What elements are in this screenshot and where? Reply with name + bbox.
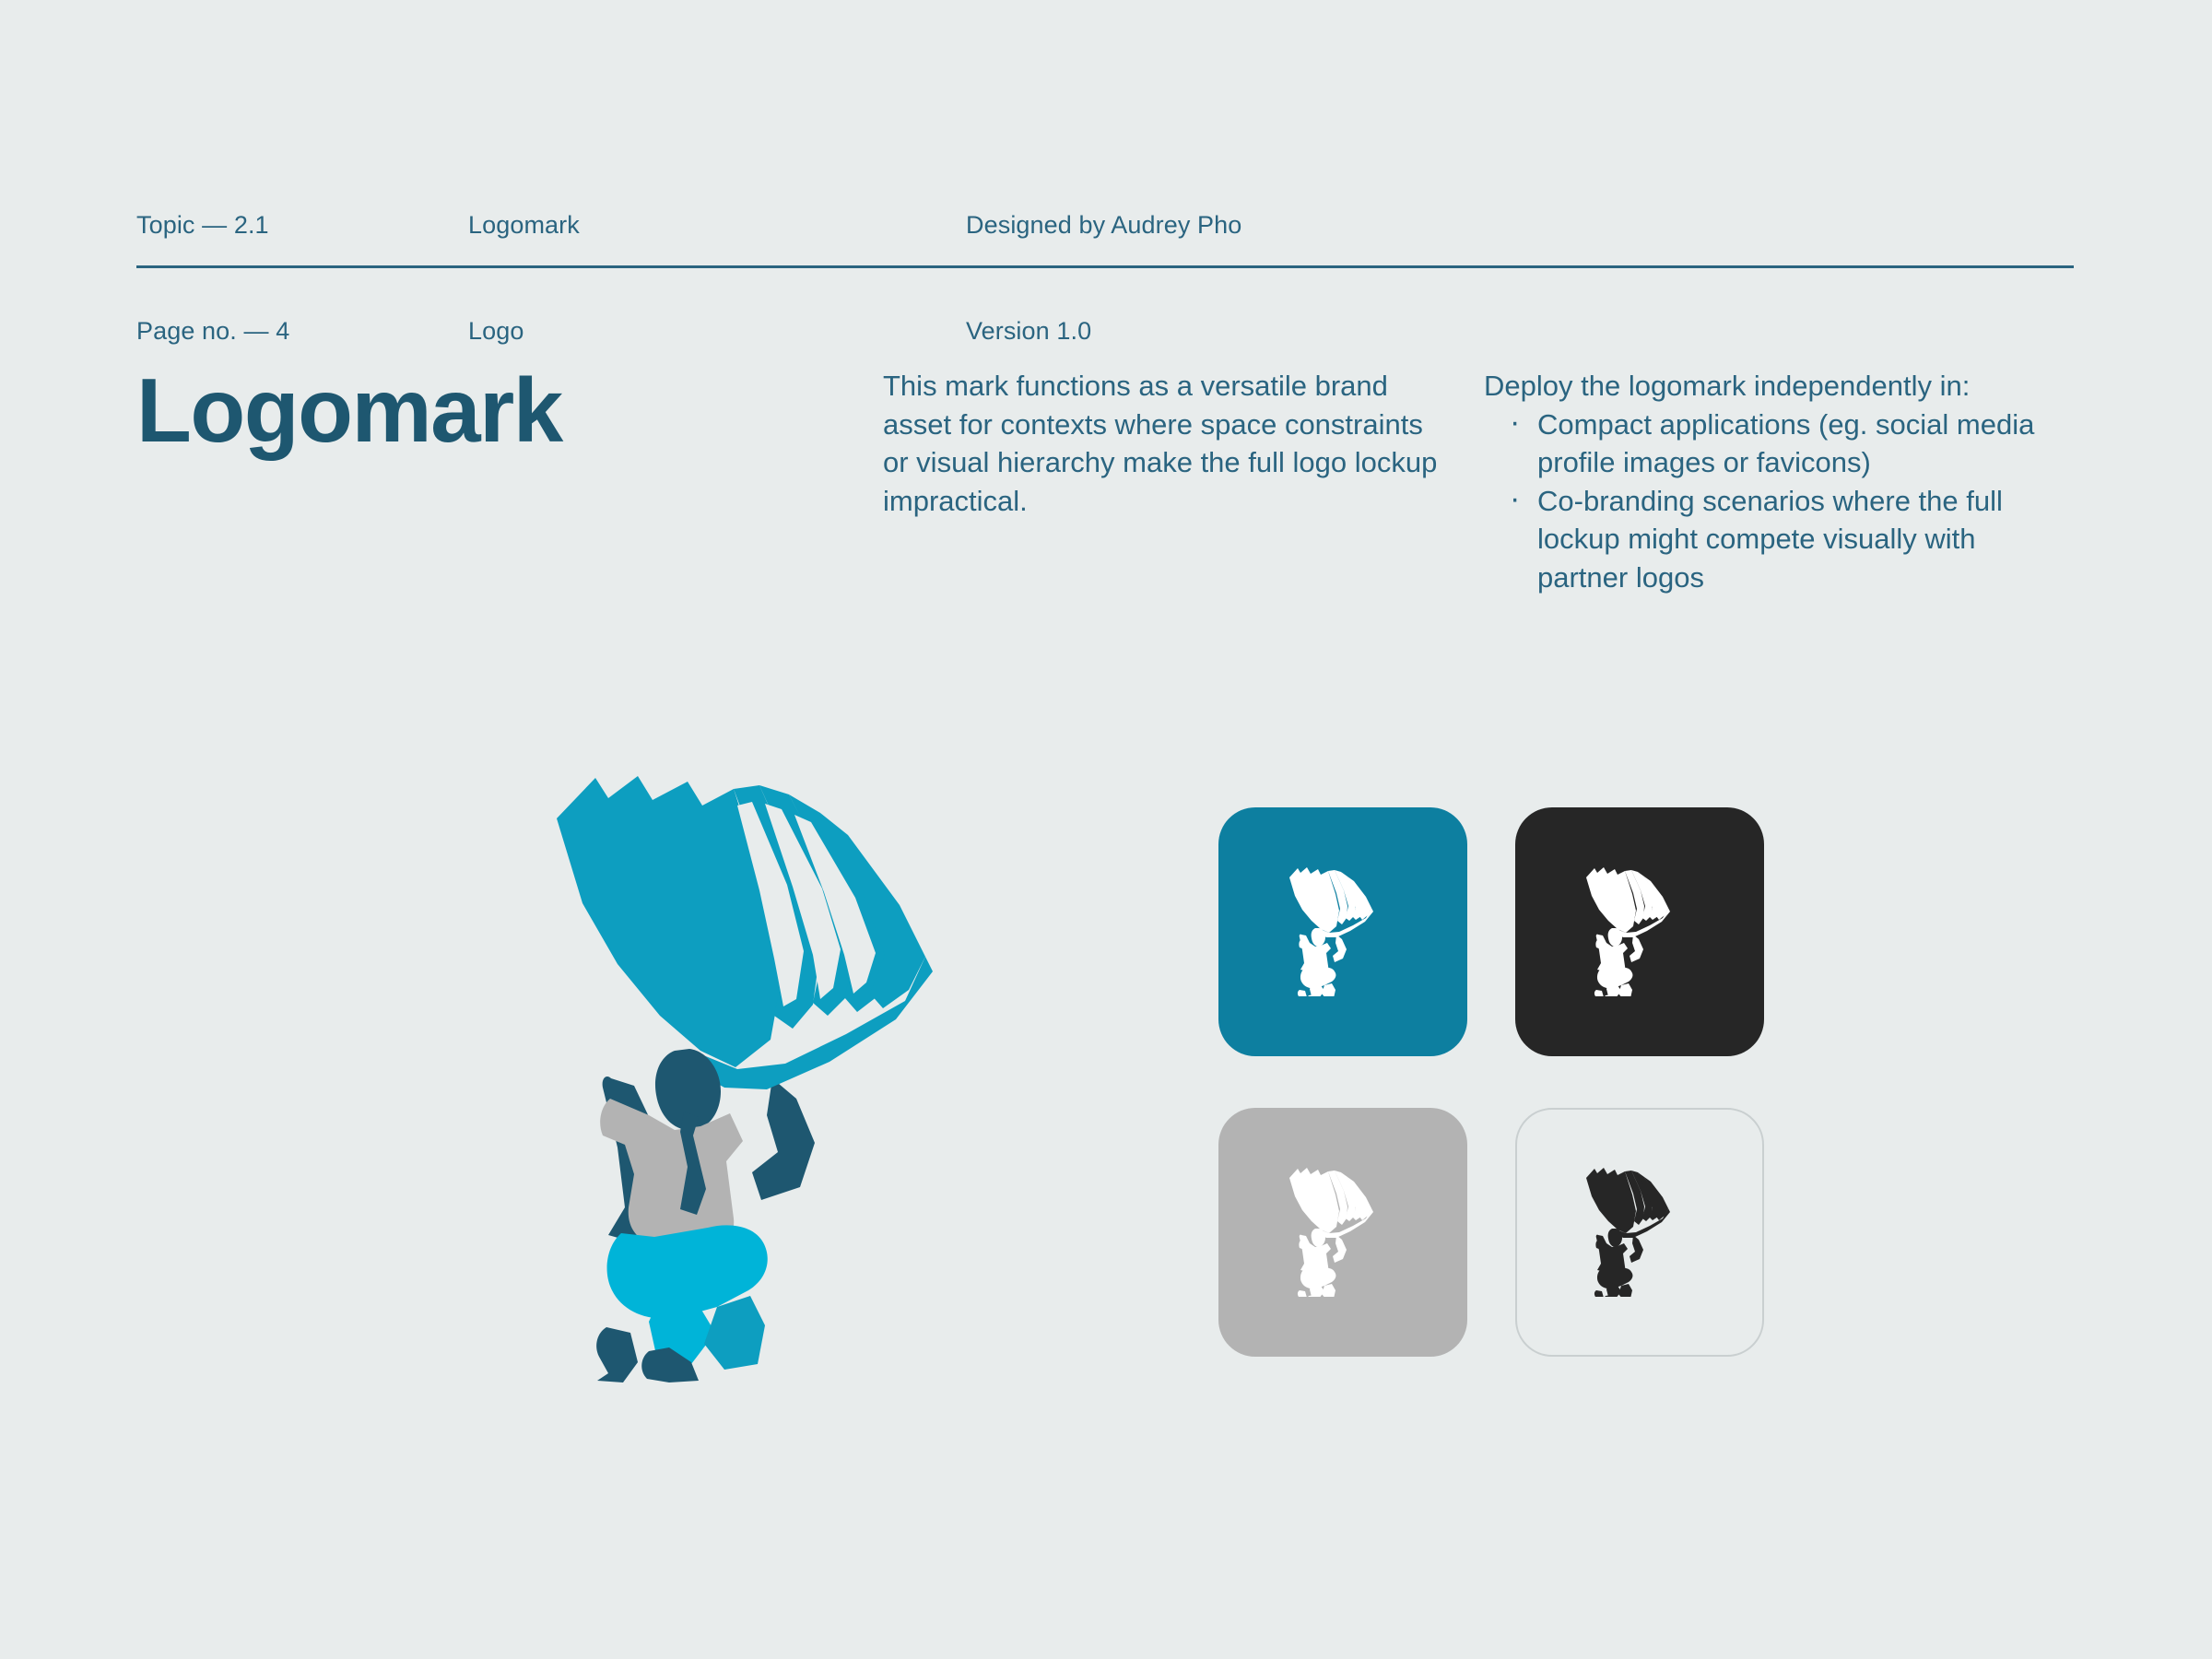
tile-dark-background[interactable] — [1515, 807, 1764, 1056]
list-item: Compact applications (eg. social media p… — [1510, 406, 2074, 482]
brand-guideline-page: Topic — 2.1 Page no. — 4 Logomark Logo D… — [0, 0, 2212, 1659]
figure-shoe-back — [596, 1327, 638, 1382]
logomark-mono-icon — [1288, 867, 1397, 996]
logomark-illustration-icon — [553, 774, 1069, 1382]
page-number-label: Page no. — 4 — [136, 313, 468, 348]
section-sublabel: Logo — [468, 313, 966, 348]
designer-label: Designed by Audrey Pho — [966, 207, 1611, 242]
page-title: Logomark — [136, 358, 883, 596]
section-label: Logomark — [468, 207, 966, 242]
logomark-mono-icon — [1585, 867, 1694, 996]
logomark-mono-icon — [1288, 1168, 1397, 1297]
description-column: This mark functions as a versatile brand… — [883, 358, 1445, 596]
list-item: Co-branding scenarios where the full loc… — [1510, 482, 2074, 597]
logomark-application-grid — [1218, 807, 1771, 1370]
description-text: This mark functions as a versatile brand… — [883, 367, 1445, 520]
hero-logomark — [553, 774, 1069, 1382]
version-label: Version 1.0 — [966, 313, 1611, 348]
header-divider-rule — [136, 265, 2074, 268]
logomark-mono-icon — [1585, 1168, 1694, 1297]
topic-label: Topic — 2.1 — [136, 207, 468, 242]
tile-light-background[interactable] — [1515, 1108, 1764, 1357]
usage-lead-text: Deploy the logomark independently in: — [1484, 367, 2074, 406]
usage-list: Compact applications (eg. social media p… — [1484, 406, 2074, 597]
usage-column: Deploy the logomark independently in: Co… — [1484, 358, 2074, 596]
tile-teal-background[interactable] — [1218, 807, 1467, 1056]
intro-section: Logomark This mark functions as a versat… — [136, 358, 2076, 596]
tile-gray-background[interactable] — [1218, 1108, 1467, 1357]
